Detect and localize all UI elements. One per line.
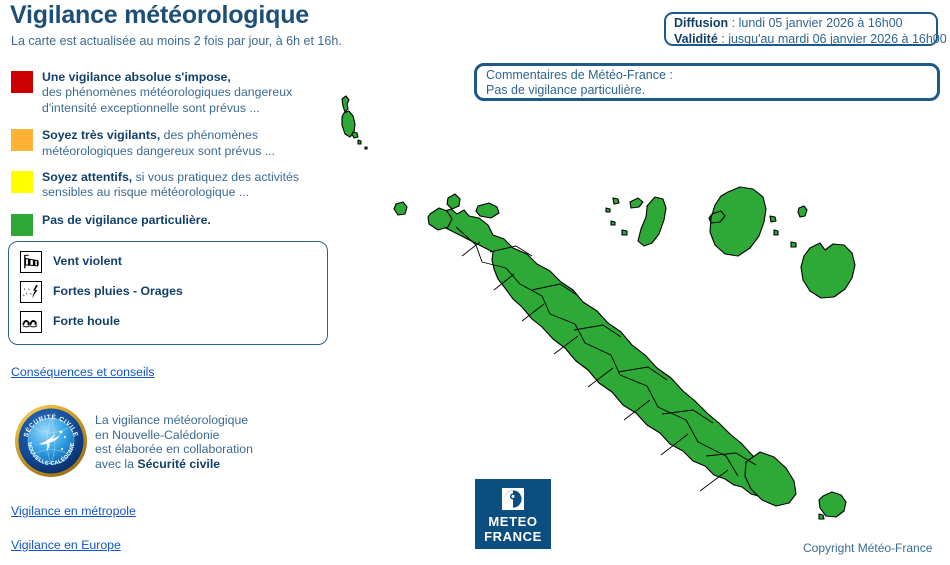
- legend-strong-green: Pas de vigilance particulière.: [42, 213, 211, 227]
- legend-strong-orange: Soyez très vigilants,: [42, 128, 160, 142]
- diffusion-line: Diffusion : lundi 05 janvier 2026 à 16h0…: [674, 15, 936, 31]
- map-island-belep-north: [342, 96, 349, 112]
- vigilance-page: Vigilance météorologique La carte est ac…: [0, 0, 950, 565]
- validity-label: Validité: [674, 32, 718, 46]
- legend-row-red: Une vigilance absolue s'impose, des phén…: [11, 70, 311, 116]
- securite-civile-text: La vigilance météorologique en Nouvelle-…: [95, 413, 253, 471]
- map-grande-terre-nw-spur: [447, 194, 460, 209]
- map-islet-between-2: [774, 230, 778, 235]
- legend-strong-red: Une vigilance absolue s'impose,: [42, 70, 231, 84]
- diffusion-validity-box: Diffusion : lundi 05 janvier 2026 à 16h0…: [664, 12, 938, 46]
- windsock-icon: [20, 251, 42, 273]
- legend-swatch-red: [11, 71, 33, 93]
- map-island-belep-small-1: [352, 132, 358, 138]
- map-island-lifou: [709, 187, 766, 256]
- link-consequences-et-conseils[interactable]: Conséquences et conseils: [11, 365, 155, 379]
- vigilance-level-legend: Une vigilance absolue s'impose, des phén…: [11, 70, 311, 242]
- map-islet-between-1: [770, 216, 776, 222]
- legend-text-green: Pas de vigilance particulière.: [42, 213, 311, 228]
- map-island-ouvea-islet-2: [606, 208, 610, 212]
- map-island-tiga: [798, 206, 807, 217]
- map-grande-terre-se-tip: [745, 452, 796, 506]
- validity-value: : jusqu'au mardi 06 janvier 2026 à 16h00: [718, 32, 947, 46]
- phenomenon-label-wind: Vent violent: [53, 254, 122, 268]
- link-vigilance-metropole[interactable]: Vigilance en métropole: [11, 504, 136, 518]
- rain-thunderstorm-icon: [20, 281, 42, 303]
- map-island-ouvea-islet-4: [622, 230, 627, 235]
- map-island-ile-des-pins-islet: [819, 514, 824, 519]
- phenomenon-label-swell: Forte houle: [53, 314, 120, 328]
- link-vigilance-europe[interactable]: Vigilance en Europe: [11, 538, 121, 552]
- legend-row-orange: Soyez très vigilants, des phénomènes mét…: [11, 128, 311, 159]
- page-subtitle: La carte est actualisée au moins 2 fois …: [11, 34, 342, 48]
- legend-text-orange: Soyez très vigilants, des phénomènes mét…: [42, 128, 311, 159]
- sc-line-4-strong: Sécurité civile: [137, 457, 220, 471]
- page-title: Vigilance météorologique: [10, 1, 309, 30]
- map-island-belep-dot: [365, 147, 367, 149]
- sc-line-2: en Nouvelle-Calédonie: [95, 428, 219, 442]
- map-island-yande: [394, 202, 407, 215]
- map-island-belep-small-2: [358, 140, 361, 144]
- legend-row-yellow: Soyez attentifs, si vous pratiquez des a…: [11, 170, 311, 201]
- map-island-ile-des-pins: [819, 492, 846, 517]
- phenomenon-label-rain-storm: Fortes pluies - Orages: [53, 284, 183, 298]
- diffusion-value: : lundi 05 janvier 2026 à 16h00: [728, 16, 902, 30]
- diffusion-label: Diffusion: [674, 16, 728, 30]
- legend-strong-yellow: Soyez attentifs,: [42, 170, 132, 184]
- map-island-ouvea-islet-3: [611, 221, 615, 225]
- legend-swatch-green: [11, 214, 33, 236]
- vigilance-map-nouvelle-caledonie[interactable]: [330, 90, 945, 550]
- comments-heading: Commentaires de Météo-France :: [486, 68, 937, 83]
- map-island-balabio: [476, 203, 499, 218]
- map-island-ouvea-islet-1: [613, 198, 619, 204]
- legend-row-green: Pas de vigilance particulière.: [11, 213, 311, 233]
- legend-swatch-orange: [11, 129, 33, 151]
- sc-line-4-prefix: avec la: [95, 457, 137, 471]
- legend-text-yellow: Soyez attentifs, si vous pratiquez des a…: [42, 170, 311, 201]
- map-islet-between-3: [791, 242, 796, 247]
- legend-text-red: Une vigilance absolue s'impose, des phén…: [42, 70, 311, 116]
- map-island-mare: [801, 243, 855, 298]
- validity-line: Validité : jusqu'au mardi 06 janvier 202…: [674, 31, 936, 47]
- sc-line-1: La vigilance météorologique: [95, 413, 248, 427]
- legend-swatch-yellow: [11, 171, 33, 193]
- legend-rest-red: des phénomènes météorologiques dangereux…: [42, 85, 292, 114]
- map-island-ouvea: [630, 197, 666, 246]
- waves-icon: [20, 311, 42, 333]
- securite-civile-logo: SÉCURITÉ CIVILE NOUVELLE-CALÉDONIE: [14, 404, 88, 478]
- sc-line-3: est élaborée en collaboration: [95, 442, 253, 456]
- phenomena-legend-box: Vent violent Fortes pluies - Orages: [8, 241, 328, 345]
